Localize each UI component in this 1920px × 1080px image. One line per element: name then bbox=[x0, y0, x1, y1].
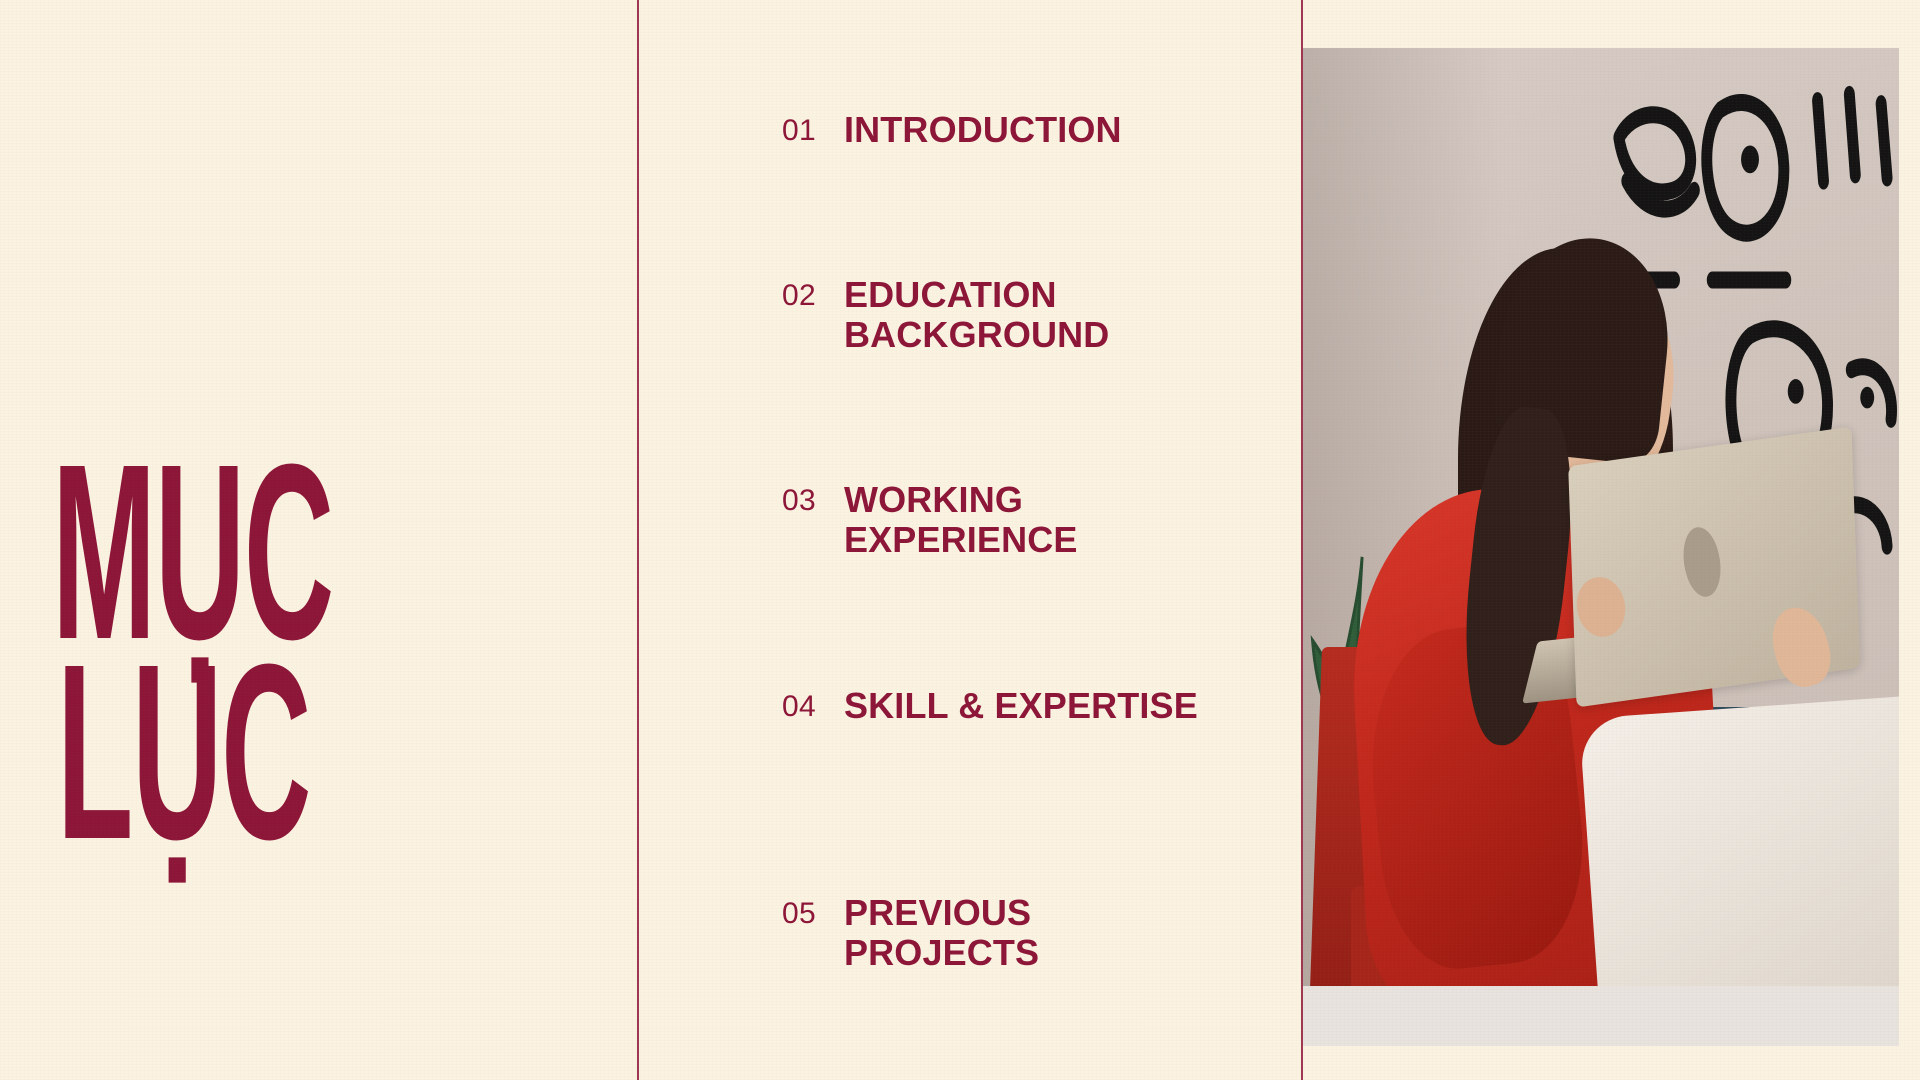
photo-panel bbox=[1301, 0, 1920, 1080]
white-cushion bbox=[1579, 695, 1899, 1017]
toc-item-introduction[interactable]: 01 INTRODUCTION bbox=[782, 110, 1122, 150]
toc-item-working-experience[interactable]: 03 WORKING EXPERIENCE bbox=[782, 480, 1078, 561]
slide-canvas: MỤC LỤC 01 INTRODUCTION 02 EDUCATION BAC… bbox=[0, 0, 1920, 1080]
toc-item-skill-expertise[interactable]: 04 SKILL & EXPERTISE bbox=[782, 686, 1198, 726]
title-panel: MỤC LỤC bbox=[0, 0, 637, 1080]
toc-item-education-background[interactable]: 02 EDUCATION BACKGROUND bbox=[782, 275, 1109, 356]
toc-number: 02 bbox=[782, 275, 844, 311]
page-title: MỤC LỤC bbox=[52, 452, 333, 852]
toc-label: PREVIOUS PROJECTS bbox=[844, 893, 1039, 974]
woman-with-laptop-photo bbox=[1303, 48, 1899, 1046]
toc-label: WORKING EXPERIENCE bbox=[844, 480, 1078, 561]
toc-number: 01 bbox=[782, 110, 844, 146]
toc-number: 03 bbox=[782, 480, 844, 516]
divider-left bbox=[637, 0, 639, 1080]
toc-item-previous-projects[interactable]: 05 PREVIOUS PROJECTS bbox=[782, 893, 1039, 974]
photo-floor bbox=[1303, 986, 1899, 1046]
table-of-contents: 01 INTRODUCTION 02 EDUCATION BACKGROUND … bbox=[637, 0, 1301, 1080]
toc-label: EDUCATION BACKGROUND bbox=[844, 275, 1109, 356]
toc-number: 04 bbox=[782, 686, 844, 722]
divider-right bbox=[1301, 0, 1303, 1080]
page-title-line-2: LỤC bbox=[52, 652, 333, 852]
toc-number: 05 bbox=[782, 893, 844, 929]
toc-label: INTRODUCTION bbox=[844, 110, 1122, 150]
toc-label: SKILL & EXPERTISE bbox=[844, 686, 1198, 726]
